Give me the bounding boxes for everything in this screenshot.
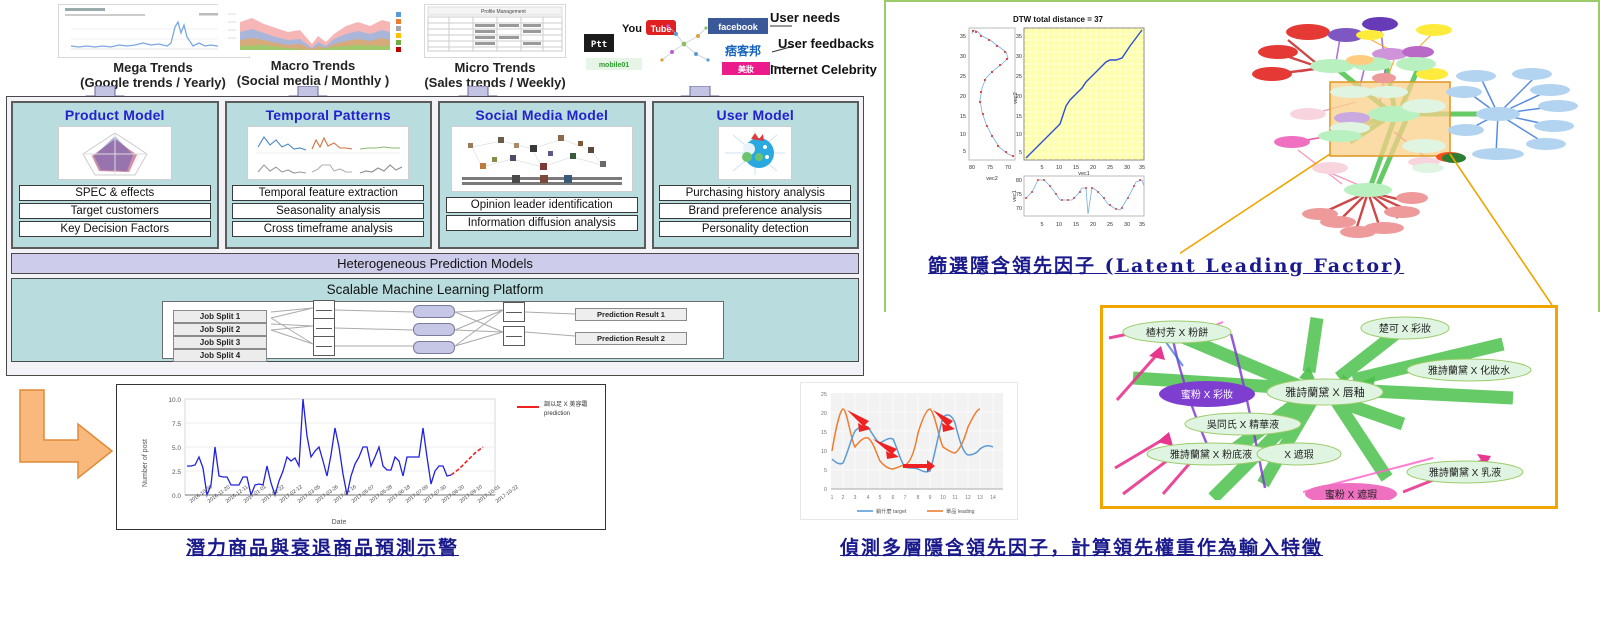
system-architecture-diagram: Product Model SPEC & effects Target cust… — [6, 96, 864, 376]
svg-text:0: 0 — [824, 487, 827, 493]
svg-text:15: 15 — [821, 430, 827, 436]
mapper-node-0 — [313, 300, 335, 320]
svg-text:4: 4 — [867, 495, 870, 501]
job-split-1: Job Split 2 — [173, 323, 267, 336]
reducer-node-1 — [503, 326, 525, 346]
svg-text:單品 leading: 單品 leading — [946, 508, 975, 515]
svg-text:0.0: 0.0 — [172, 493, 181, 500]
svg-text:2: 2 — [842, 495, 845, 501]
shuffle-pill-2 — [413, 341, 455, 354]
svg-text:蜜粉 X 彩妝: 蜜粉 X 彩妝 — [1181, 388, 1233, 401]
heterogeneous-prediction-models-band: Heterogeneous Prediction Models — [11, 253, 859, 274]
svg-text:調以足 X 美容霜: 調以足 X 美容霜 — [544, 400, 587, 408]
orange-flow-arrow — [8, 388, 118, 489]
svg-text:vec2: vec2 — [986, 176, 998, 182]
user-model-column[interactable]: User Model — [652, 101, 860, 249]
svg-text:3: 3 — [854, 495, 857, 501]
svg-text:70: 70 — [1016, 206, 1022, 212]
radar-chart-thumbnail — [58, 126, 172, 180]
svg-text:9: 9 — [929, 495, 932, 501]
svg-text:雅詩蘭黛 X 乳液: 雅詩蘭黛 X 乳液 — [1429, 466, 1501, 479]
svg-text:30: 30 — [1016, 54, 1022, 60]
svg-text:You: You — [622, 23, 642, 35]
macro-trends-title: Macro Trends — [218, 59, 408, 74]
svg-text:10: 10 — [940, 495, 946, 501]
svg-text:雅詩蘭黛 X 粉底液: 雅詩蘭黛 X 粉底液 — [1170, 448, 1252, 461]
svg-text:雅詩蘭黛 X 化妝水: 雅詩蘭黛 X 化妝水 — [1428, 364, 1510, 377]
svg-text:5: 5 — [879, 495, 882, 501]
svg-text:prediction: prediction — [544, 411, 570, 417]
latent-leading-factor-network — [1180, 2, 1598, 240]
svg-text:15: 15 — [1016, 114, 1022, 120]
svg-text:5.0: 5.0 — [172, 445, 181, 452]
annotation-user-needs: User needs — [770, 10, 840, 25]
svg-text:75: 75 — [987, 165, 993, 171]
svg-text:Ptt: Ptt — [591, 40, 607, 50]
product-model-item-2[interactable]: Key Decision Factors — [19, 221, 211, 237]
product-model-item-1[interactable]: Target customers — [19, 203, 211, 219]
macro-trends-thumbnail — [218, 4, 408, 56]
svg-text:7.5: 7.5 — [172, 421, 181, 428]
svg-text:80: 80 — [1016, 178, 1022, 184]
caption-bottom-left: 潛力商品與衰退商品預測示警 — [186, 534, 606, 563]
product-model-title: Product Model — [65, 107, 165, 123]
svg-text:30: 30 — [960, 54, 966, 60]
svg-text:8: 8 — [917, 495, 920, 501]
user-model-item-0[interactable]: Purchasing history analysis — [659, 185, 851, 201]
svg-text:25: 25 — [821, 392, 827, 398]
job-split-3: Job Split 4 — [173, 349, 267, 362]
scalable-ml-platform-title: Scalable Machine Learning Platform — [327, 282, 544, 297]
leading-lagging-alignment-chart: 252015 1050 123 456 789 101112 1314 銷什麼 … — [800, 382, 1018, 520]
svg-text:15: 15 — [960, 114, 966, 120]
temporal-patterns-item-0[interactable]: Temporal feature extraction — [232, 185, 424, 201]
model-columns: Product Model SPEC & effects Target cust… — [11, 101, 859, 249]
mapper-node-2 — [313, 336, 335, 356]
social-media-model-item-1[interactable]: Information diffusion analysis — [446, 215, 638, 231]
svg-text:35: 35 — [1139, 165, 1145, 171]
mapper-node-1 — [313, 318, 335, 338]
svg-text:10: 10 — [821, 449, 827, 455]
svg-text:5: 5 — [1040, 165, 1043, 171]
svg-text:Number of post: Number of post — [142, 439, 149, 487]
macro-trends-block: Macro Trends (Social media / Monthly ) — [218, 4, 408, 89]
svg-text:楚可 X 彩妝: 楚可 X 彩妝 — [1379, 322, 1431, 335]
social-sources-block: Ptt You Tube mobile01 facebook 痞客邦 美妝 Us… — [580, 8, 890, 88]
svg-text:30: 30 — [1124, 222, 1130, 228]
temporal-patterns-item-1[interactable]: Seasonality analysis — [232, 203, 424, 219]
svg-text:20: 20 — [1090, 222, 1096, 228]
product-post-prediction-chart: 10.07.5 5.02.50.0 Number of post 2016-10… — [116, 384, 606, 530]
user-model-item-1[interactable]: Brand preference analysis — [659, 203, 851, 219]
prediction-result-1: Prediction Result 2 — [575, 332, 687, 345]
svg-text:銷什麼 target: 銷什麼 target — [876, 507, 907, 515]
svg-text:14: 14 — [990, 495, 996, 501]
svg-text:5: 5 — [824, 468, 827, 474]
svg-text:vec1: vec1 — [1012, 190, 1018, 202]
svg-text:楂村芳 X 粉餅: 楂村芳 X 粉餅 — [1146, 326, 1208, 339]
svg-text:Date: Date — [332, 519, 347, 526]
temporal-patterns-item-2[interactable]: Cross timeframe analysis — [232, 221, 424, 237]
svg-text:5: 5 — [1040, 222, 1043, 228]
social-media-model-item-0[interactable]: Opinion leader identification — [446, 197, 638, 213]
micro-trends-title: Micro Trends — [400, 61, 590, 76]
annotation-internet-celebrity: Internet Celebrity — [770, 62, 877, 77]
social-media-model-column[interactable]: Social Media Model — [438, 101, 646, 249]
svg-text:10: 10 — [1016, 132, 1022, 138]
svg-text:痞客邦: 痞客邦 — [725, 43, 761, 58]
svg-text:30: 30 — [1124, 165, 1130, 171]
user-cluster-thumbnail — [718, 126, 792, 180]
svg-text:雅詩蘭黛 X 唇釉: 雅詩蘭黛 X 唇釉 — [1285, 385, 1364, 399]
svg-text:美妝: 美妝 — [738, 64, 754, 74]
svg-text:2.5: 2.5 — [172, 469, 181, 476]
user-model-title: User Model — [717, 107, 794, 123]
svg-text:7: 7 — [904, 495, 907, 501]
svg-text:12: 12 — [965, 495, 971, 501]
svg-text:5: 5 — [1019, 150, 1022, 156]
svg-text:25: 25 — [1107, 222, 1113, 228]
ml-pipeline-diagram: Job Split 1 Job Split 2 Job Split 3 Job … — [162, 301, 724, 359]
dtw-alignment-plot: DTW total distance = 37 353025 2015105 8… — [910, 8, 1150, 233]
svg-text:25: 25 — [1107, 165, 1113, 171]
annotation-user-feedbacks: User feedbacks — [778, 36, 874, 51]
svg-text:20: 20 — [821, 411, 827, 417]
svg-text:13: 13 — [977, 495, 983, 501]
product-model-item-0[interactable]: SPEC & effects — [19, 185, 211, 201]
svg-text:5: 5 — [963, 149, 966, 155]
svg-text:1: 1 — [831, 495, 834, 501]
micro-trends-thumbnail: Profile Management — [424, 4, 566, 58]
shuffle-pill-1 — [413, 323, 455, 336]
svg-text:6: 6 — [892, 495, 895, 501]
social-media-model-title: Social Media Model — [475, 107, 608, 123]
svg-text:mobile01: mobile01 — [599, 62, 629, 69]
caption-right-top: 篩選隱含領先因子 (Latent Leading Factor) — [928, 252, 1488, 281]
svg-text:11: 11 — [952, 495, 957, 501]
svg-text:facebook: facebook — [718, 22, 759, 32]
job-split-0: Job Split 1 — [173, 310, 267, 323]
scalable-ml-platform-band: Scalable Machine Learning Platform Job S… — [11, 278, 859, 362]
svg-text:35: 35 — [1016, 34, 1022, 40]
svg-text:70: 70 — [1005, 165, 1011, 171]
caption-bottom-right: 偵測多層隱含領先因子，計算領先權重作為輸入特徵 — [840, 534, 1530, 563]
svg-text:25: 25 — [1016, 74, 1022, 80]
svg-text:20: 20 — [1090, 165, 1096, 171]
social-network-graph-thumbnail — [451, 126, 633, 192]
product-model-column[interactable]: Product Model SPEC & effects Target cust… — [11, 101, 219, 249]
svg-text:80: 80 — [969, 165, 975, 171]
zoomed-network-detail: 楂村芳 X 粉餅 楚可 X 彩妝 蜜粉 X 彩妝 吳同氏 X 精華液 雅詩蘭黛 … — [1100, 305, 1558, 509]
micro-trends-block: Profile Management Micro Trends (Sales t… — [400, 4, 590, 91]
svg-text:10.0: 10.0 — [168, 397, 181, 404]
svg-text:25: 25 — [960, 74, 966, 80]
user-model-item-2[interactable]: Personality detection — [659, 221, 851, 237]
shuffle-pill-0 — [413, 305, 455, 318]
svg-text:蜜粉 X 遮瑕: 蜜粉 X 遮瑕 — [1325, 488, 1377, 500]
svg-text:20: 20 — [960, 94, 966, 100]
svg-text:10: 10 — [960, 132, 966, 138]
svg-text:X 遮瑕: X 遮瑕 — [1284, 448, 1313, 461]
svg-text:Profile Management: Profile Management — [481, 9, 526, 15]
svg-text:15: 15 — [1073, 222, 1079, 228]
svg-text:10: 10 — [1056, 222, 1062, 228]
svg-text:吳同氏 X 精華液: 吳同氏 X 精華液 — [1207, 418, 1279, 431]
svg-text:35: 35 — [960, 34, 966, 40]
reducer-node-0 — [503, 302, 525, 322]
prediction-result-0: Prediction Result 1 — [575, 308, 687, 321]
svg-text:DTW total distance = 37: DTW total distance = 37 — [1013, 15, 1104, 24]
svg-text:35: 35 — [1139, 222, 1145, 228]
job-split-2: Job Split 3 — [173, 336, 267, 349]
svg-text:20: 20 — [1016, 94, 1022, 100]
svg-text:10: 10 — [1056, 165, 1062, 171]
temporal-patterns-column[interactable]: Temporal Patterns Temporal feature extra — [225, 101, 433, 249]
temporal-patterns-title: Temporal Patterns — [266, 107, 391, 123]
small-multiples-timeseries-thumbnail — [247, 126, 409, 180]
